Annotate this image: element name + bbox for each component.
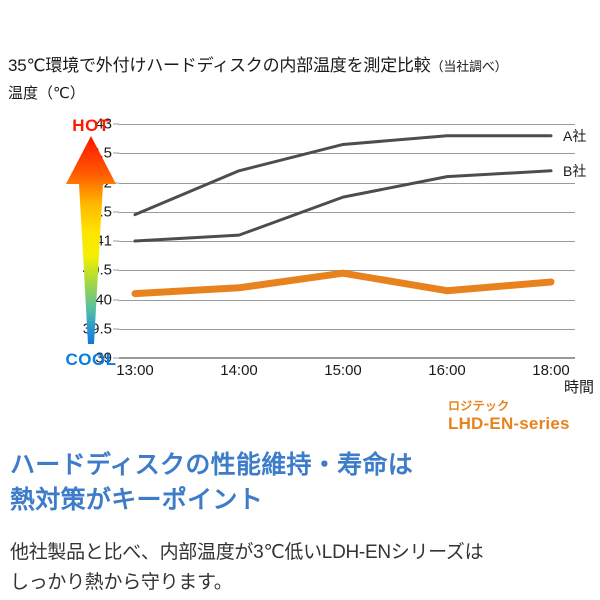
series-end-label: A社 <box>563 126 586 146</box>
x-axis-title: 時間 <box>564 376 594 397</box>
infographic-root: 35℃環境で外付けハードディスクの内部温度を測定比較（当社調べ） 温度（℃） 4… <box>0 0 600 600</box>
footer-body: 他社製品と比べ、内部温度が3℃低いLDH-ENシリーズは しっかり熱から守ります… <box>10 538 596 598</box>
series-line <box>135 171 551 241</box>
x-tick-label: 16:00 <box>428 362 466 379</box>
product-series-label: LHD-EN-series <box>448 414 570 434</box>
x-tick-label: 14:00 <box>220 362 258 379</box>
footer-lead-line1: ハードディスクの性能維持・寿命は <box>10 448 590 483</box>
series-layer <box>119 124 575 358</box>
chart-title-main: 35℃環境で外付けハードディスクの内部温度を測定比較 <box>8 56 431 75</box>
footer-body-line1: 他社製品と比べ、内部温度が3℃低いLDH-ENシリーズは <box>10 538 596 568</box>
series-end-label: B社 <box>563 161 586 181</box>
x-tick-label: 15:00 <box>324 362 362 379</box>
gradient-arrow-icon <box>62 134 120 346</box>
product-brand-label: ロジテック <box>448 399 570 414</box>
x-tick-label: 13:00 <box>116 362 154 379</box>
series-line <box>135 273 551 293</box>
footer-lead: ハードディスクの性能維持・寿命は 熱対策がキーポイント <box>10 448 590 518</box>
chart-title-note: （当社調べ） <box>431 59 508 74</box>
gridline <box>119 358 575 359</box>
y-axis-caption: 温度（℃） <box>8 84 85 104</box>
hot-label: HOT <box>72 116 109 136</box>
product-callout: ロジテック LHD-EN-series <box>448 399 570 434</box>
chart-title: 35℃環境で外付けハードディスクの内部温度を測定比較（当社調べ） <box>8 55 596 77</box>
cool-label: COOL <box>65 350 116 370</box>
chart-plot-area: 4342.54241.54140.54039.539 13:0014:0015:… <box>119 124 575 358</box>
x-axis-line <box>119 357 575 358</box>
footer-body-line2: しっかり熱から守ります。 <box>10 568 596 598</box>
footer-lead-line2: 熱対策がキーポイント <box>10 483 590 518</box>
temperature-gauge-arrow: HOT COOL <box>62 110 120 370</box>
